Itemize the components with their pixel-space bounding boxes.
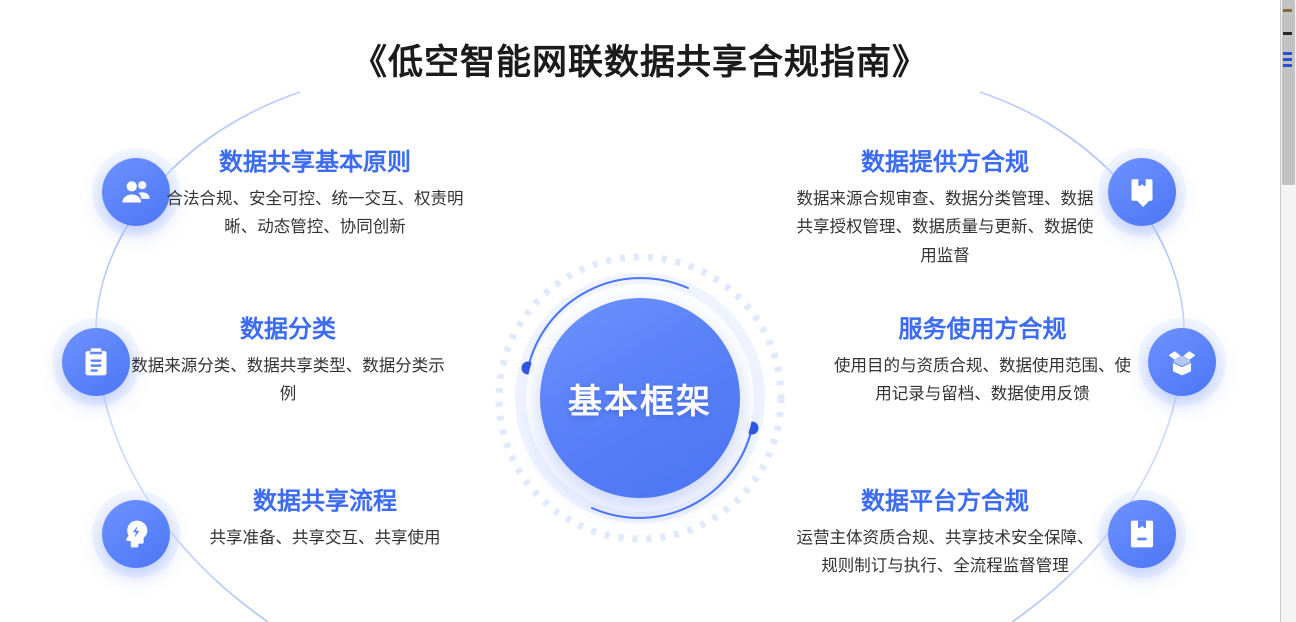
brain-bolt-icon <box>102 500 170 568</box>
document-line-icon <box>1108 500 1176 568</box>
document-check-icon <box>1108 158 1176 226</box>
node-description: 运营主体资质合规、共享技术安全保障、规则制订与执行、全流程监督管理 <box>795 524 1095 581</box>
node-text-block: 数据平台方合规 运营主体资质合规、共享技术安全保障、规则制订与执行、全流程监督管… <box>795 487 1095 581</box>
open-box-icon <box>1148 328 1216 396</box>
center-hub-circle: 基本框架 <box>540 298 740 498</box>
users-icon <box>102 158 170 226</box>
scrollbar-marker <box>1283 32 1292 35</box>
node-title: 数据共享基本原则 <box>165 148 465 178</box>
node-title: 数据分类 <box>128 315 448 345</box>
node-title: 数据平台方合规 <box>795 487 1095 517</box>
node-text-block: 数据分类 数据来源分类、数据共享类型、数据分类示例 <box>128 315 448 409</box>
node-text-block: 数据共享流程 共享准备、共享交互、共享使用 <box>165 487 485 552</box>
center-hub: 基本框架 <box>492 250 788 546</box>
scrollbar-marker <box>1283 52 1292 55</box>
node-title: 服务使用方合规 <box>830 315 1135 345</box>
scrollbar-marker <box>1283 9 1292 12</box>
node-description: 共享准备、共享交互、共享使用 <box>165 524 485 552</box>
node-description: 数据来源合规审查、数据分类管理、数据共享授权管理、数据质量与更新、数据使用监督 <box>795 185 1095 270</box>
scrollbar-marker <box>1283 64 1292 67</box>
scrollbar-marker <box>1283 58 1292 61</box>
node-text-block: 数据共享基本原则 合法合规、安全可控、统一交互、权责明晰、动态管控、协同创新 <box>165 148 465 242</box>
node-description: 合法合规、安全可控、统一交互、权责明晰、动态管控、协同创新 <box>165 185 465 242</box>
node-title: 数据共享流程 <box>165 487 485 517</box>
node-description: 数据来源分类、数据共享类型、数据分类示例 <box>128 352 448 409</box>
clipboard-icon <box>62 328 130 396</box>
infographic-canvas: 《低空智能网联数据共享合规指南》 <box>0 0 1280 622</box>
page-title: 《低空智能网联数据共享合规指南》 <box>0 34 1280 85</box>
node-description: 使用目的与资质合规、数据使用范围、使用记录与留档、数据使用反馈 <box>830 352 1135 409</box>
node-title: 数据提供方合规 <box>795 148 1095 178</box>
node-text-block: 数据提供方合规 数据来源合规审查、数据分类管理、数据共享授权管理、数据质量与更新… <box>795 148 1095 270</box>
scrollbar-thumb[interactable] <box>1282 0 1295 185</box>
vertical-scrollbar[interactable] <box>1280 0 1296 622</box>
scrollbar-track[interactable] <box>1281 0 1296 622</box>
center-hub-label: 基本框架 <box>568 374 712 423</box>
node-text-block: 服务使用方合规 使用目的与资质合规、数据使用范围、使用记录与留档、数据使用反馈 <box>830 315 1135 409</box>
